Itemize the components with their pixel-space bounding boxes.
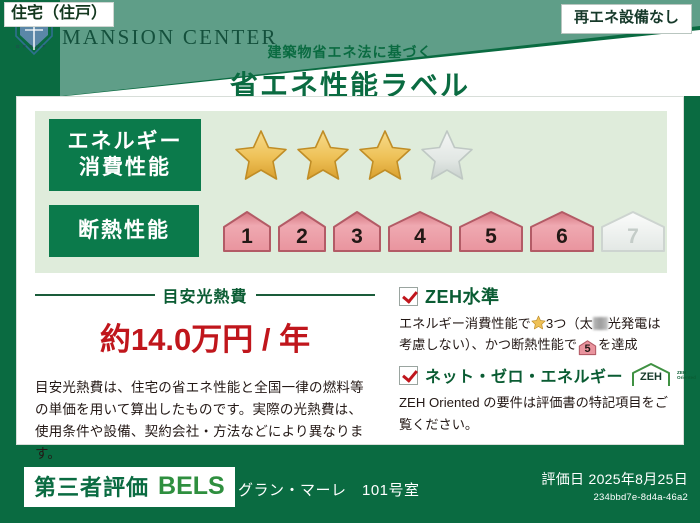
title-subtitle: 建築物省エネ法に基づく	[0, 42, 700, 62]
claim-zeh-level-title: ZEH水準	[425, 283, 500, 309]
energy-label-line1: エネルギー	[68, 129, 183, 155]
insulation-performance-chip: 断熱性能	[49, 205, 199, 257]
insulation-grade-2: 2	[276, 207, 328, 255]
insulation-grade-4: 4	[386, 207, 454, 255]
insulation-grade-7-value: 7	[627, 225, 639, 255]
footer-bar: 第三者評価 BELS グラン・マーレ 101号室 評価日 2025年8月25日 …	[0, 457, 700, 523]
evaluation-date: 評価日 2025年8月25日	[541, 469, 688, 489]
evaluation-id: 234bbd7e-8d4a-46a2	[541, 492, 688, 503]
insulation-performance-row: 断熱性能 1	[35, 203, 667, 259]
cost-rule-left	[35, 294, 155, 296]
cost-heading: 目安光熱費	[35, 283, 375, 307]
footer-meta: 評価日 2025年8月25日 234bbd7e-8d4a-46a2	[541, 469, 688, 503]
insulation-grade-5-value: 5	[485, 225, 497, 255]
insulation-grade-7: 7	[599, 207, 667, 255]
insulation-grade-1: 1	[221, 207, 273, 255]
claim-zeh-level: ZEH水準 エネルギー消費性能で3つ（太光発電は考慮しない）、かつ断熱性能で5を…	[399, 283, 671, 356]
claim-net-zero-body: ZEH Oriented の要件は評価書の特記項目をご覧ください。	[399, 392, 671, 435]
energy-performance-label: MANSION CENTER G R O U P 住宅（住戸） 再エネ設備なし …	[0, 0, 700, 523]
bels-logo-text: BELS	[158, 472, 225, 501]
insulation-grade-4-value: 4	[414, 225, 426, 255]
claim-zeh-text-b: 3つ（太	[546, 316, 593, 331]
insulation-grade-3: 3	[331, 207, 383, 255]
claims-block: ZEH水準 エネルギー消費性能で3つ（太光発電は考慮しない）、かつ断熱性能で5を…	[399, 283, 671, 441]
insulation-grade-scale: 1 2 3	[221, 207, 667, 255]
insulation-grade-2-value: 2	[296, 225, 308, 255]
inline-badge-value: 5	[578, 339, 597, 359]
zeh-oriented-tag: ZEH Oriented	[677, 370, 696, 381]
insulation-grade-5: 5	[457, 207, 525, 255]
title-block: 建築物省エネ法に基づく 省エネ性能ラベル	[0, 42, 700, 104]
performance-panel: エネルギー 消費性能	[35, 111, 667, 273]
estimated-utility-cost-block: 目安光熱費 約14.0万円 / 年 目安光熱費は、住宅の省エネ性能と全国一律の燃…	[35, 283, 375, 464]
housing-type-tag: 住宅（住戸）	[4, 2, 114, 27]
check-icon	[399, 366, 418, 385]
property-name: グラン・マーレ 101号室	[238, 479, 420, 500]
energy-star-rating	[233, 128, 475, 182]
claim-zeh-level-body: エネルギー消費性能で3つ（太光発電は考慮しない）、かつ断熱性能で5を達成	[399, 313, 671, 356]
claim-net-zero-head: ネット・ゼロ・エネルギー ZEH ZEH Oriented	[399, 362, 671, 388]
check-icon	[399, 287, 418, 306]
redacted-character	[593, 317, 608, 330]
insulation-grade-1-value: 1	[241, 225, 253, 255]
inline-star-icon	[531, 315, 546, 330]
third-party-eval-label: 第三者評価	[34, 470, 149, 502]
insulation-grade-6: 6	[528, 207, 596, 255]
energy-performance-chip: エネルギー 消費性能	[49, 119, 201, 191]
claim-zeh-level-head: ZEH水準	[399, 283, 671, 309]
energy-performance-row: エネルギー 消費性能	[35, 119, 667, 191]
claim-net-zero-energy: ネット・ゼロ・エネルギー ZEH ZEH Oriented ZEH Orient…	[399, 362, 671, 435]
claim-zeh-text-a: エネルギー消費性能で	[399, 316, 531, 331]
star-filled-icon	[295, 128, 351, 182]
star-empty-icon	[419, 128, 475, 182]
energy-label-line2: 消費性能	[79, 155, 171, 181]
insulation-grade-6-value: 6	[556, 225, 568, 255]
claim-net-zero-title: ネット・ゼロ・エネルギー	[425, 363, 623, 387]
cost-rule-right	[256, 294, 376, 296]
insulation-grade-3-value: 3	[351, 225, 363, 255]
label-card: エネルギー 消費性能	[16, 96, 684, 445]
inline-house-badge-icon: 5	[578, 339, 597, 356]
claim-zeh-text-d: を達成	[598, 337, 638, 352]
cost-label: 目安光熱費	[163, 283, 248, 307]
bels-certification-chip: 第三者評価 BELS	[24, 467, 235, 507]
star-filled-icon	[357, 128, 413, 182]
svg-text:ZEH: ZEH	[640, 371, 662, 383]
cost-value: 約14.0万円 / 年	[35, 314, 375, 359]
star-filled-icon	[233, 128, 289, 182]
zeh-oriented-line1: ZEH	[677, 370, 686, 375]
zeh-oriented-line2: Oriented	[677, 375, 696, 380]
insulation-label: 断熱性能	[78, 218, 170, 243]
renewable-equipment-tag: 再エネ設備なし	[561, 4, 692, 34]
zeh-house-logo-icon: ZEH	[630, 362, 672, 388]
cost-note: 目安光熱費は、住宅の省エネ性能と全国一律の燃料等の単価を用いて算出したものです。…	[35, 377, 375, 464]
